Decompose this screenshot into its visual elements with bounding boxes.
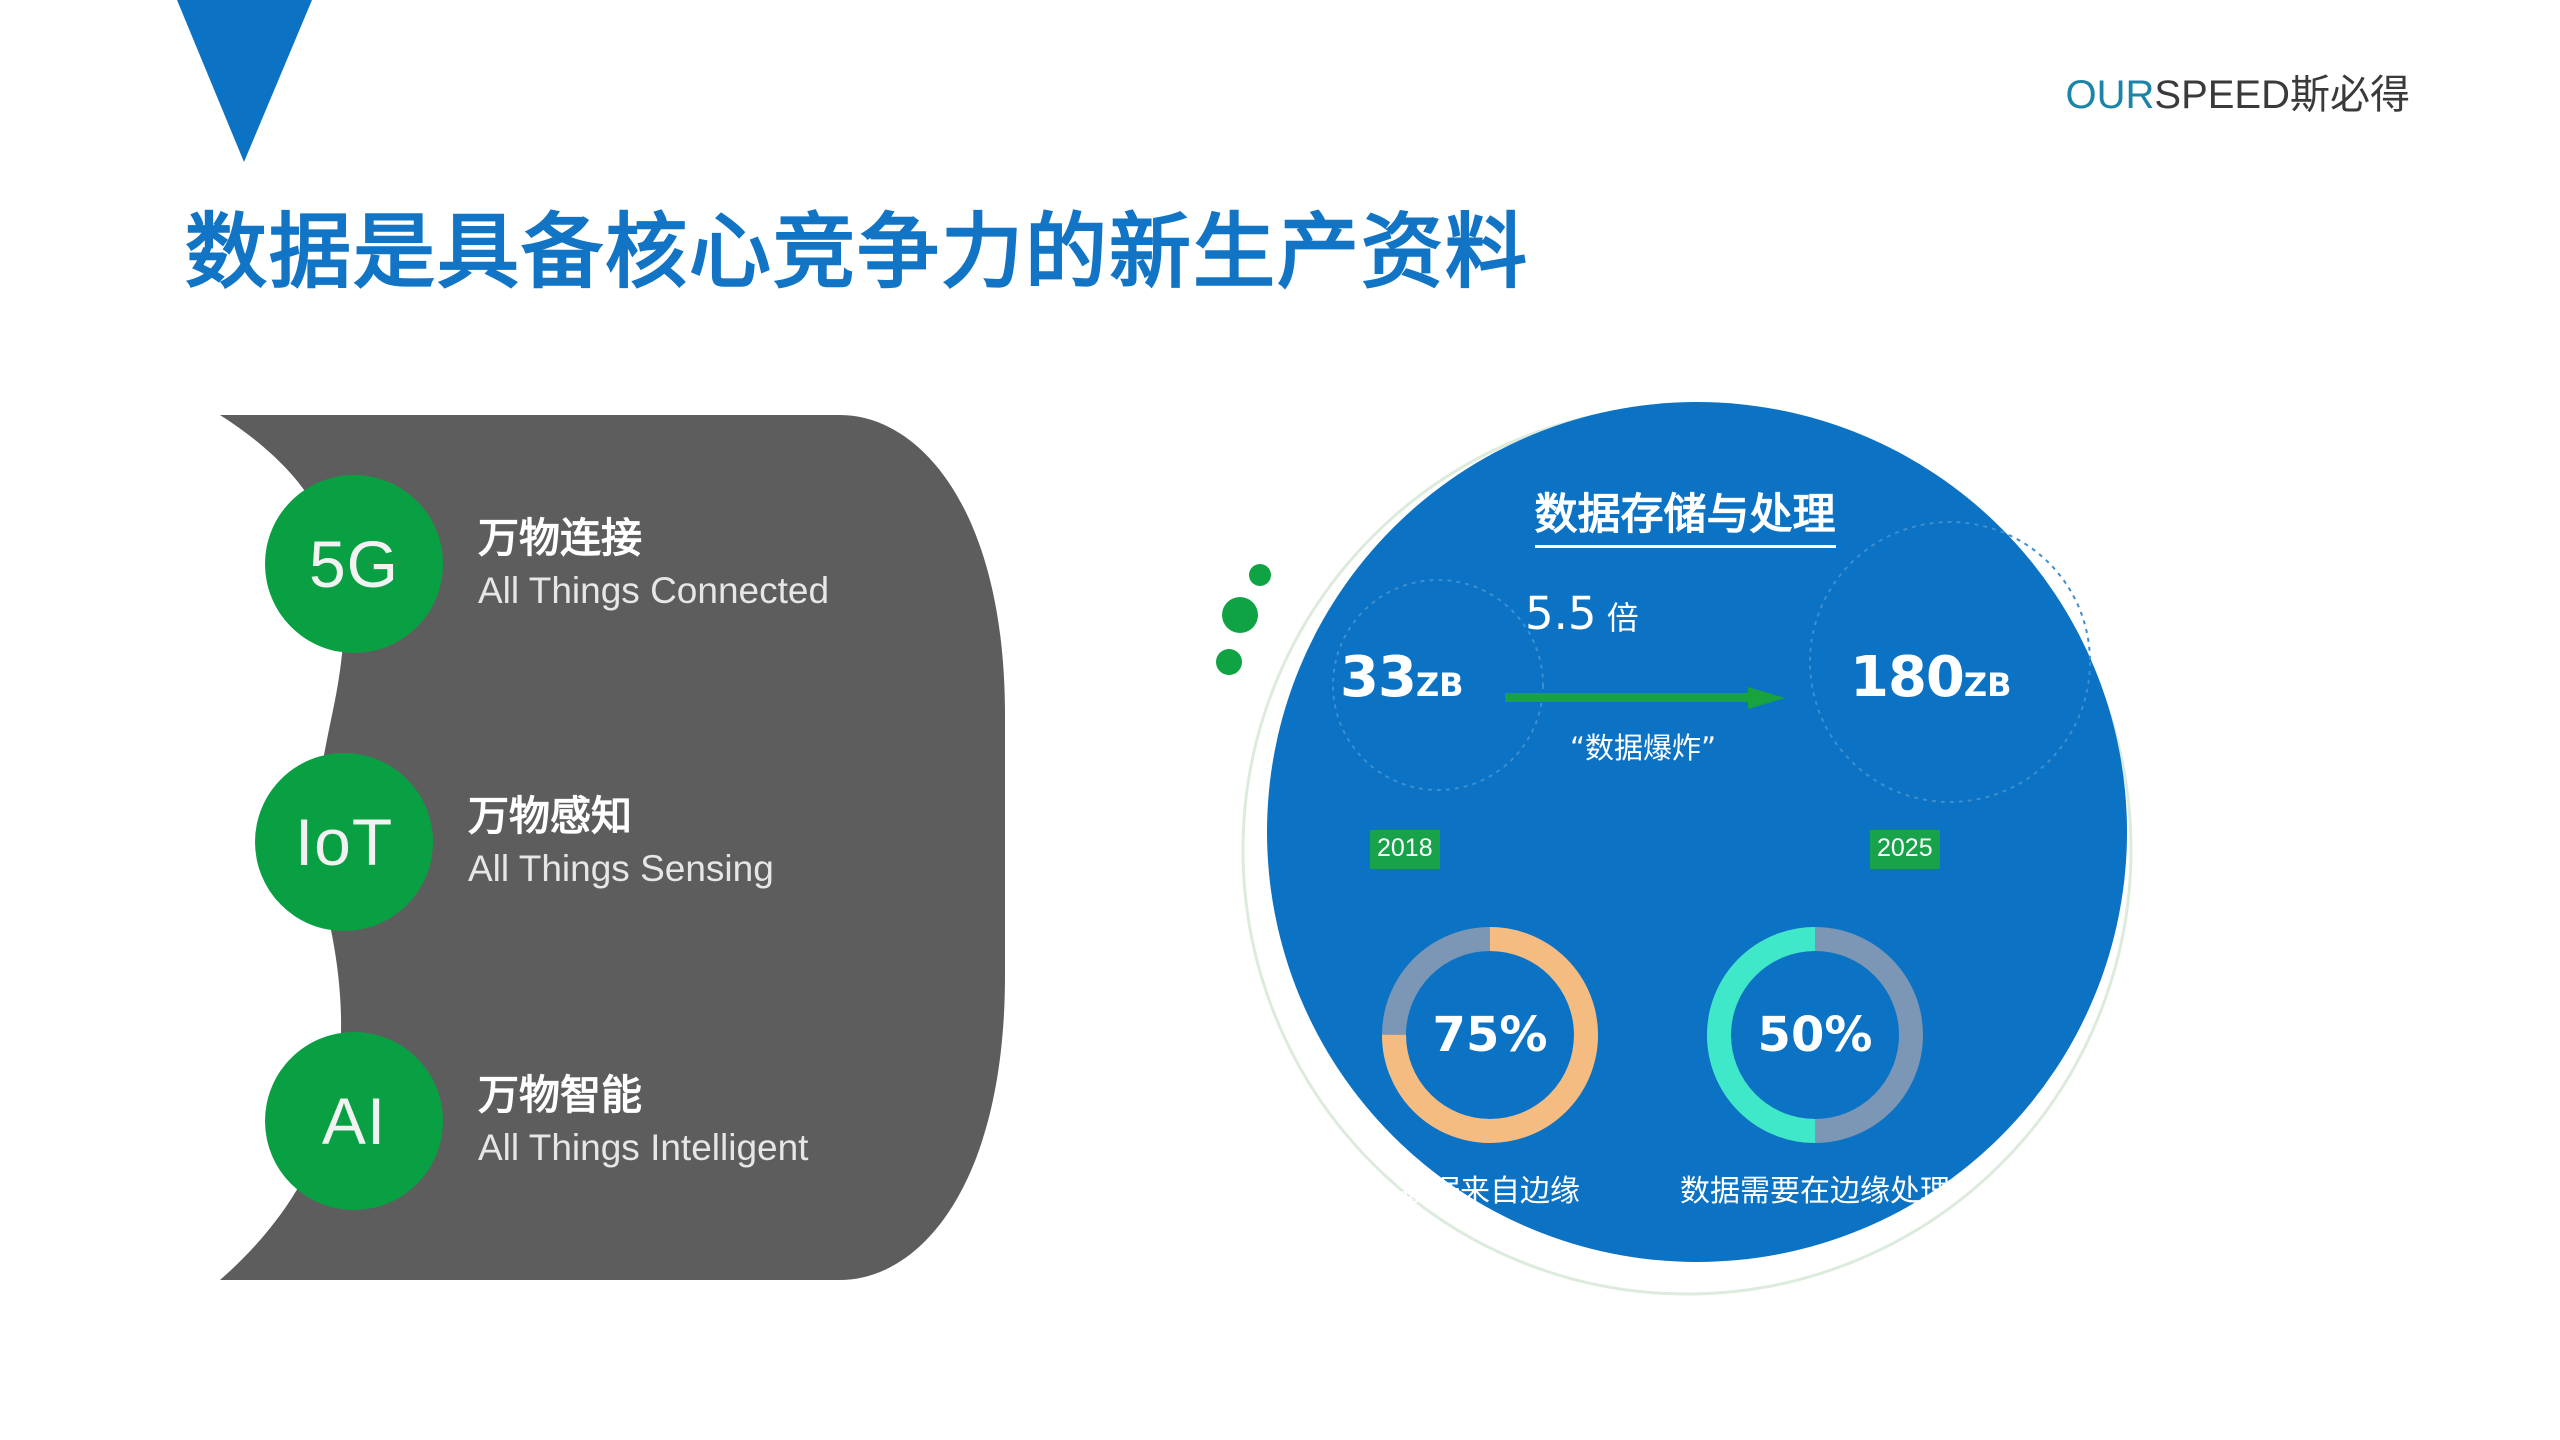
feature-badge-circle-iot: IoT (255, 753, 433, 931)
feature-text-block: 万物智能 All Things Intelligent (478, 1070, 808, 1172)
feature-badge-label: 5G (309, 531, 399, 597)
growth-stat-row: 33ZB 5.5 倍 180ZB “数据爆炸” (1215, 615, 2155, 765)
growth-to-number: 180 (1850, 645, 1964, 710)
visual-heading: 数据存储与处理 (1215, 480, 2155, 542)
feature-title-en: All Things Intelligent (478, 1124, 808, 1172)
feature-title-cn: 万物感知 (468, 791, 774, 842)
growth-multiplier-number: 5.5 (1525, 587, 1597, 640)
feature-badge-label: IoT (295, 809, 393, 875)
donut-chart-edge-processing: 50% 数据需要在边缘处理 (1670, 920, 1960, 1210)
donut-value-75: 75% (1375, 920, 1605, 1150)
feature-text-block: 万物连接 All Things Connected (478, 513, 829, 615)
feature-title-cn: 万物智能 (478, 1070, 808, 1121)
feature-title-en: All Things Connected (478, 567, 829, 615)
logo-primary-text: OUR (2066, 73, 2155, 117)
corner-triangle-decoration (177, 0, 312, 162)
page-title: 数据是具备核心竞争力的新生产资料 (185, 185, 1529, 304)
year-badge-end: 2025 (1870, 830, 1940, 869)
growth-to-unit: ZB (1964, 666, 2012, 704)
growth-to-value: 180ZB (1850, 645, 2012, 710)
brand-logo: OURSPEED斯必得 (2066, 62, 2411, 120)
slide-canvas: OURSPEED斯必得 数据是具备核心竞争力的新生产资料 5G 万物连接 All… (0, 0, 2560, 1440)
donut-ring-75: 75% (1375, 920, 1605, 1150)
growth-multiplier: 5.5 倍 (1525, 587, 1639, 640)
logo-secondary-text: SPEED斯必得 (2154, 73, 2410, 117)
visual-heading-text: 数据存储与处理 (1535, 490, 1836, 548)
feature-badge-label: AI (322, 1088, 386, 1154)
left-feature-list: 5G 万物连接 All Things Connected IoT 万物感知 Al… (220, 415, 1010, 1285)
year-badge-start: 2018 (1370, 830, 1440, 869)
growth-from-number: 33 (1340, 645, 1416, 710)
feature-title-cn: 万物连接 (478, 513, 829, 564)
feature-text-block: 万物感知 All Things Sensing (468, 791, 774, 893)
feature-item-ai[interactable]: AI 万物智能 All Things Intelligent (265, 1032, 808, 1210)
feature-badge-circle-5g: 5G (265, 475, 443, 653)
feature-badge-circle-ai: AI (265, 1032, 443, 1210)
growth-arrow-icon (1505, 687, 1785, 709)
donut-value-50: 50% (1700, 920, 1930, 1150)
donut-ring-50: 50% (1700, 920, 1930, 1150)
feature-item-iot[interactable]: IoT 万物感知 All Things Sensing (255, 753, 774, 931)
feature-item-5g[interactable]: 5G 万物连接 All Things Connected (265, 475, 829, 653)
donut-label-50: 数据需要在边缘处理 (1670, 1166, 1960, 1210)
donut-chart-edge-origin: 75% 数据来自边缘 (1345, 920, 1635, 1210)
growth-from-value: 33ZB (1340, 645, 1464, 710)
feature-title-en: All Things Sensing (468, 845, 774, 893)
visual-content-layer: 数据存储与处理 33ZB 5.5 倍 180ZB (1215, 400, 2155, 1310)
growth-multiplier-suffix: 倍 (1597, 599, 1639, 637)
data-storage-visual: 数据存储与处理 33ZB 5.5 倍 180ZB (1215, 400, 2155, 1310)
growth-caption: “数据爆炸” (1473, 725, 1813, 767)
growth-from-unit: ZB (1416, 666, 1464, 704)
donut-label-75: 数据来自边缘 (1345, 1166, 1635, 1210)
donut-chart-group: 75% 数据来自边缘 50% 数据需要在边缘处理 (1215, 920, 2155, 1220)
